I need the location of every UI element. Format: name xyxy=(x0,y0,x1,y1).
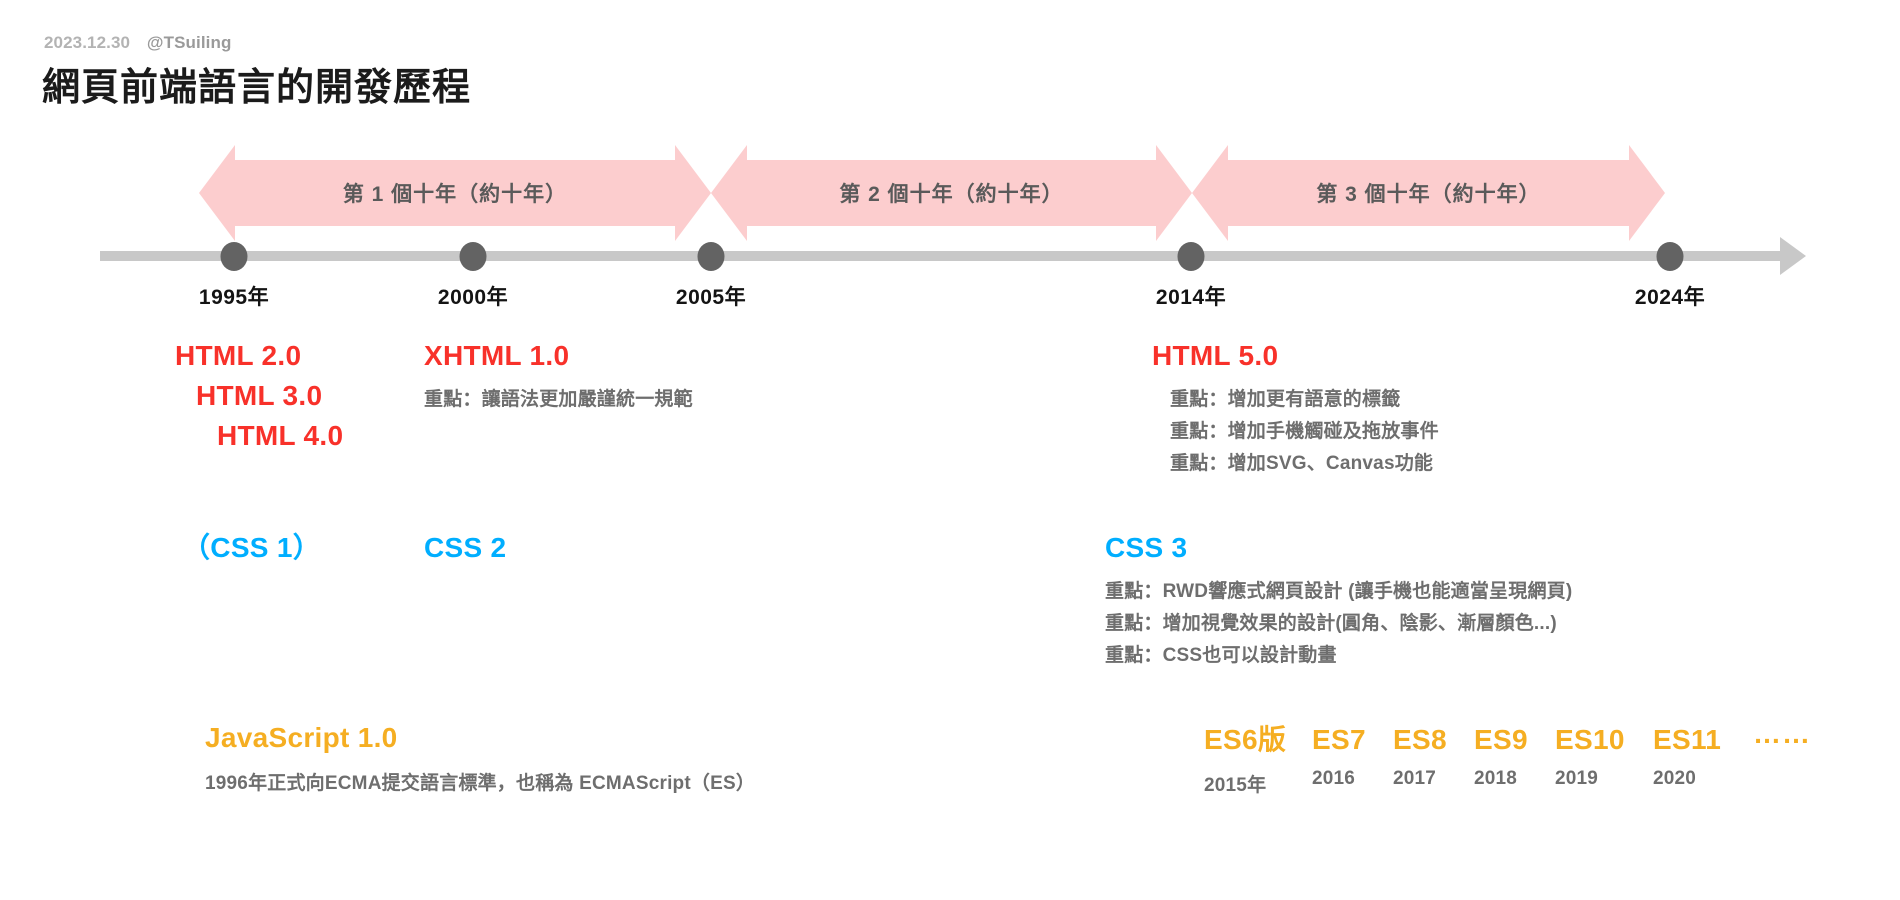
timeline-dot-1995 xyxy=(221,242,248,271)
axis-year-2005: 2005年 xyxy=(676,281,746,311)
css2-title: CSS 2 xyxy=(424,528,506,568)
es-version-item: ES10 2019 xyxy=(1555,724,1653,790)
css1-title: （CSS 1） xyxy=(182,528,321,568)
javascript-title: JavaScript 1.0 xyxy=(205,718,755,758)
decade-band-1: 第 1 個十年（約十年） xyxy=(235,160,675,226)
html-version-item: HTML 2.0 xyxy=(175,336,343,376)
timeline-diagram: 2023.12.30 @TSuiling 網頁前端語言的開發歷程 第 1 個十年… xyxy=(0,0,1900,900)
es-version-item: ES6版 2015年 xyxy=(1204,718,1312,797)
es-version-item: ES9 2018 xyxy=(1474,724,1555,790)
html-version-item: HTML 4.0 xyxy=(175,416,343,456)
html-version-item: HTML 3.0 xyxy=(175,376,343,416)
es-version-row: ES6版 2015年 ES7 2016 ES8 2017 ES9 2018 ES… xyxy=(1204,718,1811,797)
axis-year-2014: 2014年 xyxy=(1156,281,1226,311)
timeline-dot-2014 xyxy=(1178,242,1205,271)
css3-note: 重點：RWD響應式網頁設計 (讓手機也能適當呈現網頁) xyxy=(1105,576,1572,608)
publish-date: 2023.12.30 xyxy=(44,33,130,52)
es-version-name: ES8 xyxy=(1393,724,1474,756)
es-version-item: ES7 2016 xyxy=(1312,724,1393,790)
es-version-item: ES8 2017 xyxy=(1393,724,1474,790)
es-version-year: 2018 xyxy=(1474,768,1555,790)
decade-label-2: 第 2 個十年（約十年） xyxy=(747,178,1156,208)
axis-year-1995: 1995年 xyxy=(199,281,269,311)
css3-block-2014: CSS 3 重點：RWD響應式網頁設計 (讓手機也能適當呈現網頁) 重點：增加視… xyxy=(1105,528,1572,671)
javascript-note: 1996年正式向ECMA提交語言標準，也稱為 ECMAScript（ES） xyxy=(205,768,755,800)
es-version-name: ES6版 xyxy=(1204,718,1312,758)
decade-label-1: 第 1 個十年（約十年） xyxy=(235,178,675,208)
html5-title: HTML 5.0 xyxy=(1152,336,1439,376)
page-title: 網頁前端語言的開發歷程 xyxy=(42,56,471,111)
javascript-block-2000: JavaScript 1.0 1996年正式向ECMA提交語言標準，也稱為 EC… xyxy=(205,718,755,800)
decade-band-3: 第 3 個十年（約十年） xyxy=(1228,160,1629,226)
axis-year-2024: 2024年 xyxy=(1635,281,1705,311)
timeline-dot-2005 xyxy=(698,242,725,271)
html5-block-2014: HTML 5.0 重點：增加更有語意的標籤 重點：增加手機觸碰及拖放事件 重點：… xyxy=(1152,336,1439,479)
axis-year-2000: 2000年 xyxy=(438,281,508,311)
es-version-year: 2016 xyxy=(1312,768,1393,790)
html-versions-1995: HTML 2.0 HTML 3.0 HTML 4.0 xyxy=(175,336,343,456)
xhtml-note: 重點：讓語法更加嚴謹統一規範 xyxy=(424,384,693,416)
es-version-name: ES7 xyxy=(1312,724,1393,756)
html5-note: 重點：增加更有語意的標籤 xyxy=(1170,384,1439,416)
arrow-head-right-icon xyxy=(1629,145,1665,241)
css3-title: CSS 3 xyxy=(1105,528,1572,568)
timeline-dot-2024 xyxy=(1657,242,1684,271)
decade-label-3: 第 3 個十年（約十年） xyxy=(1228,178,1629,208)
css3-note: 重點：CSS也可以設計動畫 xyxy=(1105,640,1572,672)
es-version-year: 2019 xyxy=(1555,768,1653,790)
es-version-name: ES11 xyxy=(1653,724,1753,756)
timeline-dot-2000 xyxy=(460,242,487,271)
css3-note: 重點：增加視覺效果的設計(圓角、陰影、漸層顏色...) xyxy=(1105,608,1572,640)
author-handle: @TSuiling xyxy=(147,33,232,52)
es-version-item: ES11 2020 xyxy=(1653,724,1753,790)
xhtml-title: XHTML 1.0 xyxy=(424,336,693,376)
arrow-head-right-icon xyxy=(1156,145,1192,241)
es-version-name: ES10 xyxy=(1555,724,1653,756)
es-version-year: 2017 xyxy=(1393,768,1474,790)
es-version-name: ES9 xyxy=(1474,724,1555,756)
html5-note: 重點：增加SVG、Canvas功能 xyxy=(1170,448,1439,480)
es-version-more: …… xyxy=(1753,718,1811,750)
html5-note: 重點：增加手機觸碰及拖放事件 xyxy=(1170,416,1439,448)
decade-band-2: 第 2 個十年（約十年） xyxy=(747,160,1156,226)
timeline-arrow-icon xyxy=(1780,237,1806,275)
xhtml-block-2000: XHTML 1.0 重點：讓語法更加嚴謹統一規範 xyxy=(424,336,693,416)
timeline-axis xyxy=(100,251,1784,261)
arrow-head-right-icon xyxy=(675,145,711,241)
es-version-year: 2015年 xyxy=(1204,770,1312,797)
arrow-head-left-icon xyxy=(1192,145,1228,241)
es-version-year: 2020 xyxy=(1653,768,1753,790)
arrow-head-left-icon xyxy=(199,145,235,241)
byline: 2023.12.30 @TSuiling xyxy=(44,33,231,53)
arrow-head-left-icon xyxy=(711,145,747,241)
